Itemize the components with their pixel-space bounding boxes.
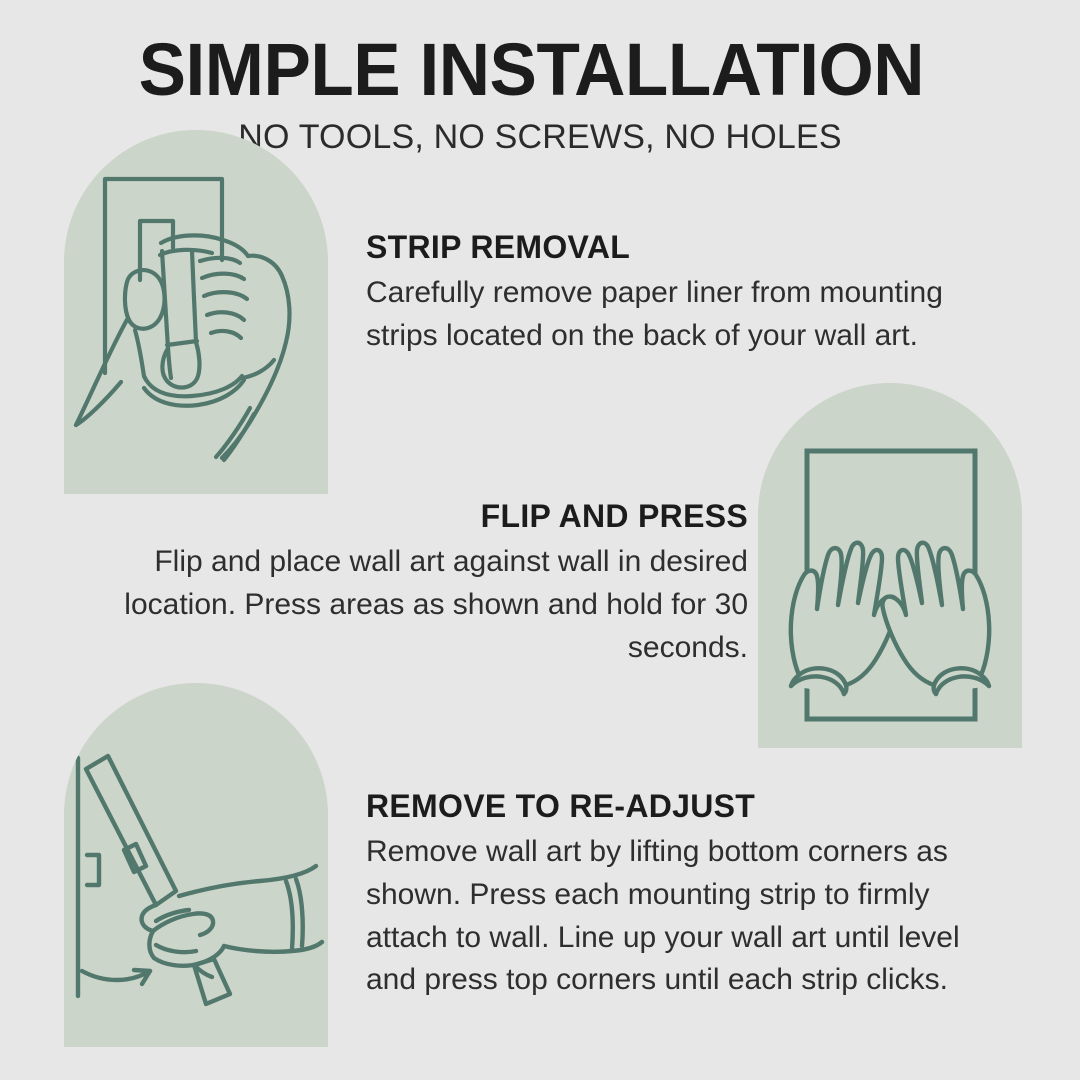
step-1-body: Carefully remove paper liner from mounti… [366,272,996,357]
infographic-page: SIMPLE INSTALLATION NO TOOLS, NO SCREWS,… [0,0,1080,1080]
step-3-heading: REMOVE TO RE-ADJUST [366,787,1006,825]
hand-peeling-liner-from-wall-art-icon [64,130,328,494]
step-2-body: Flip and place wall art against wall in … [80,541,748,669]
step-1-illustration [64,130,328,494]
step-1-heading: STRIP REMOVAL [366,228,996,266]
step-2-illustration [758,383,1022,748]
step-3-body: Remove wall art by lifting bottom corner… [366,831,1006,1001]
step-3-text-block: REMOVE TO RE-ADJUST Remove wall art by l… [366,787,1006,1002]
step-2-text-block: FLIP AND PRESS Flip and place wall art a… [80,497,748,669]
hand-lifting-wall-art-corner-icon [64,683,328,1047]
two-hands-pressing-wall-art-icon [758,383,1022,748]
step-3-illustration [64,683,328,1047]
page-title: SIMPLE INSTALLATION [22,34,1059,107]
step-1-text-block: STRIP REMOVAL Carefully remove paper lin… [366,228,996,358]
step-2-heading: FLIP AND PRESS [80,497,748,535]
